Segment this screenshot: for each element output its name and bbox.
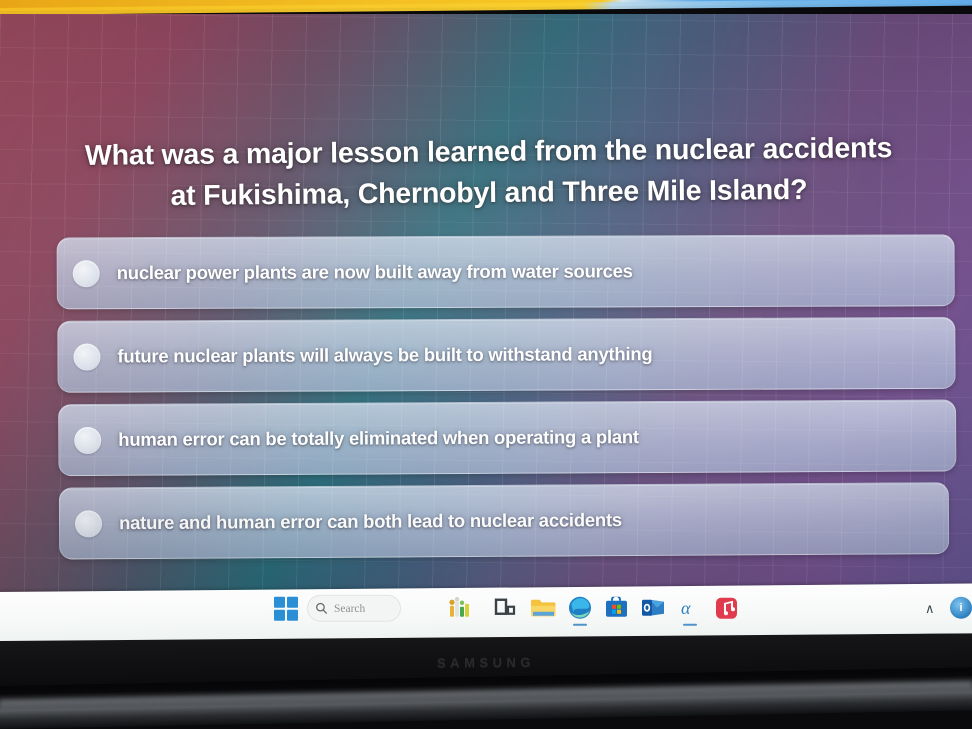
radio-button-icon[interactable] (73, 343, 100, 370)
answer-option-label: nature and human error can both lead to … (119, 509, 622, 534)
radio-button-icon[interactable] (73, 260, 100, 287)
show-hidden-icons-chevron-icon[interactable]: ∧ (925, 601, 935, 617)
microsoft-store-icon[interactable] (602, 594, 630, 622)
answer-option-4[interactable]: nature and human error can both lead to … (59, 482, 949, 559)
radio-button-icon[interactable] (75, 510, 102, 537)
answer-option-label: nuclear power plants are now built away … (117, 260, 633, 284)
answer-option-label: human error can be totally eliminated wh… (118, 426, 639, 451)
question-text: What was a major lesson learned from the… (74, 128, 903, 218)
search-placeholder: Search (334, 602, 365, 614)
answer-options-list: nuclear power plants are now built away … (56, 232, 957, 549)
search-input[interactable]: Search (307, 595, 401, 622)
windows-logo-icon[interactable] (274, 597, 298, 621)
alpha-app-icon[interactable]: α (676, 594, 704, 622)
monitor-photo: What was a major lesson learned from the… (0, 0, 972, 729)
quiz-screen: What was a major lesson learned from the… (0, 14, 972, 592)
answer-option-2[interactable]: future nuclear plants will always be bui… (57, 317, 955, 393)
windows-taskbar: Search (0, 584, 972, 642)
music-app-icon[interactable] (712, 594, 740, 622)
widgets-icon[interactable] (447, 594, 475, 622)
answer-option-1[interactable]: nuclear power plants are now built away … (57, 234, 955, 309)
radio-button-icon[interactable] (74, 426, 101, 453)
answer-option-3[interactable]: human error can be totally eliminated wh… (58, 399, 956, 476)
svg-text:α: α (681, 598, 691, 618)
file-explorer-icon[interactable] (529, 594, 557, 622)
network-status-icon[interactable]: i (950, 597, 972, 619)
answer-option-label: future nuclear plants will always be bui… (117, 343, 652, 367)
edge-icon[interactable] (566, 594, 594, 622)
task-view-icon[interactable] (491, 594, 519, 622)
outlook-icon[interactable] (639, 594, 667, 622)
search-icon (315, 602, 328, 615)
